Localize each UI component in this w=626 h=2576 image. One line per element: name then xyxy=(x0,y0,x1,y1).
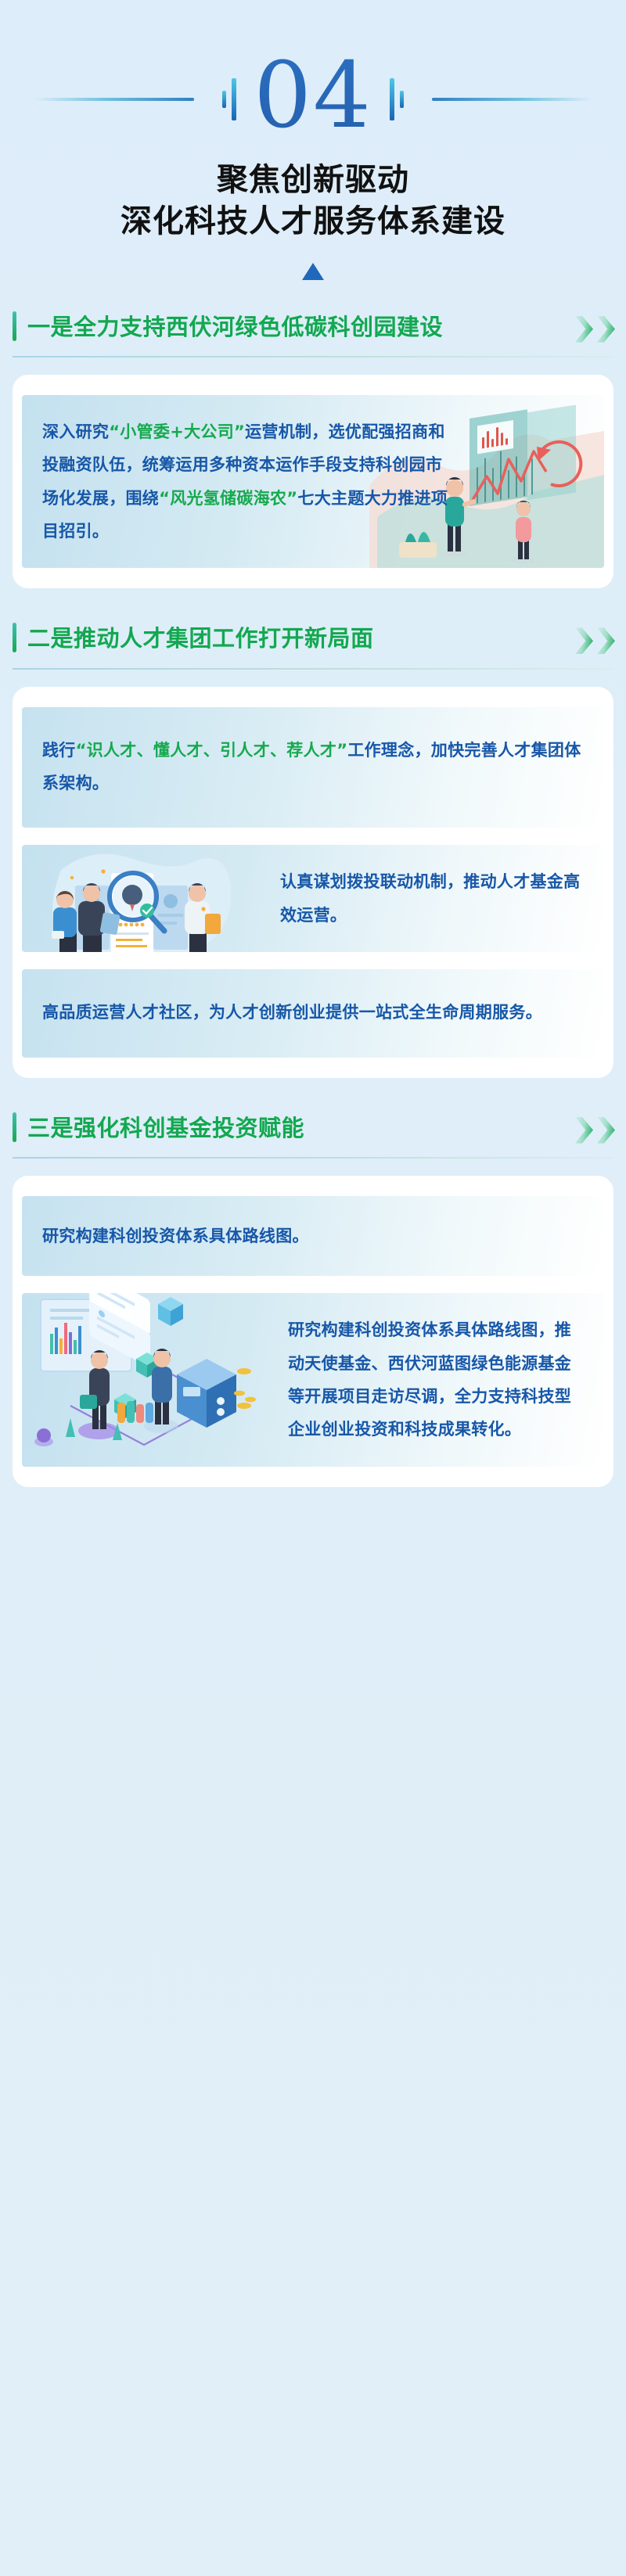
page-title: 聚焦创新驱动 深化科技人才服务体系建设 xyxy=(0,160,626,243)
content-block: 研究构建科创投资体系具体路线图，推动天使基金、西伏河蓝图绿色能源基金等开展项目走… xyxy=(22,1293,604,1467)
section-2-title: 二是推动人才集团工作打开新局面 xyxy=(27,623,575,655)
section-accent-bar xyxy=(13,1112,16,1142)
chevron-right-icon xyxy=(575,627,593,654)
block-text: 高品质运营人才社区，为人才创新创业提供一站式全生命周期服务。 xyxy=(22,969,604,1057)
section-divider xyxy=(13,356,613,357)
double-chevron-right-icon[interactable] xyxy=(575,1117,615,1144)
page-title-line-2: 深化科技人才服务体系建设 xyxy=(0,201,626,243)
page-title-line-1: 聚焦创新驱动 xyxy=(0,160,626,201)
section-2: 二是推动人才集团工作打开新局面 践行“识人才、懂人才、引人才、荐人才”工作理念，… xyxy=(0,623,626,1077)
block-text: 深入研究“小管委+大公司”运营机制，选优配强招商和投融资队伍，统筹运用多种资本运… xyxy=(22,395,604,569)
text-run-highlight: “识人才、懂人才、引人才、荐人才” xyxy=(76,741,348,760)
text-run: 研究构建科创投资体系具体路线图。 xyxy=(42,1227,309,1245)
text-run: 践行 xyxy=(42,741,76,760)
block-text: 认真谋划拨投联动机制，推动人才基金高效运营。 xyxy=(22,845,604,952)
section-divider xyxy=(13,1157,613,1159)
section-accent-bar xyxy=(13,623,16,652)
section-3: 三是强化科创基金投资赋能 研究构建科创投资体系具体路线图。 xyxy=(0,1112,626,1487)
text-run-highlight: “小管委+大公司” xyxy=(109,422,245,441)
text-run-highlight: “风光氢储碳海农” xyxy=(159,489,297,508)
tick-marks-right xyxy=(390,78,404,120)
chevron-right-icon xyxy=(575,1117,593,1144)
content-block: 践行“识人才、懂人才、引人才、荐人才”工作理念，加快完善人才集团体系架构。 xyxy=(22,707,604,828)
double-chevron-right-icon[interactable] xyxy=(575,316,615,343)
page-number: 04 xyxy=(254,51,372,142)
section-2-card: 践行“识人才、懂人才、引人才、荐人才”工作理念，加快完善人才集团体系架构。 xyxy=(13,687,613,1078)
section-3-title: 三是强化科创基金投资赋能 xyxy=(27,1112,575,1144)
divider-rule-right-icon xyxy=(432,98,592,101)
section-1: 一是全力支持西伏河绿色低碳科创园建设 xyxy=(0,311,626,589)
section-3-heading-row: 三是强化科创基金投资赋能 xyxy=(0,1112,626,1144)
section-3-card: 研究构建科创投资体系具体路线图。 xyxy=(13,1176,613,1487)
content-block: 深入研究“小管委+大公司”运营机制，选优配强招商和投融资队伍，统筹运用多种资本运… xyxy=(22,395,604,569)
section-number-row: 04 xyxy=(0,56,626,142)
chevron-right-icon xyxy=(597,316,615,343)
chevron-right-icon xyxy=(575,316,593,343)
block-text: 研究构建科创投资体系具体路线图。 xyxy=(22,1196,604,1276)
page-header: 04 聚焦创新驱动 深化科技人才服务体系建设 xyxy=(0,0,626,280)
tick-large-icon xyxy=(390,78,394,120)
section-1-heading-row: 一是全力支持西伏河绿色低碳科创园建设 xyxy=(0,311,626,343)
tick-small-icon xyxy=(222,91,226,108)
chevron-right-icon xyxy=(597,627,615,654)
block-text: 研究构建科创投资体系具体路线图，推动天使基金、西伏河蓝图绿色能源基金等开展项目走… xyxy=(22,1293,604,1467)
tick-small-icon xyxy=(400,91,404,108)
infographic-page: 04 聚焦创新驱动 深化科技人才服务体系建设 一是全力支持西伏河绿色低碳科创园建… xyxy=(0,0,626,2576)
text-run: 认真谋划拨投联动机制，推动人才基金高效运营。 xyxy=(280,872,580,924)
double-chevron-right-icon[interactable] xyxy=(575,627,615,654)
text-run: 高品质运营人才社区，为人才创新创业提供一站式全生命周期服务。 xyxy=(42,1003,542,1022)
tick-large-icon xyxy=(232,78,236,120)
section-1-title: 一是全力支持西伏河绿色低碳科创园建设 xyxy=(27,311,575,343)
text-run: 深入研究 xyxy=(42,422,109,441)
section-1-card: 深入研究“小管委+大公司”运营机制，选优配强招商和投融资队伍，统筹运用多种资本运… xyxy=(13,375,613,589)
chevron-right-icon xyxy=(597,1117,615,1144)
content-block: 高品质运营人才社区，为人才创新创业提供一站式全生命周期服务。 xyxy=(22,969,604,1057)
content-block: 研究构建科创投资体系具体路线图。 xyxy=(22,1196,604,1276)
section-2-heading-row: 二是推动人才集团工作打开新局面 xyxy=(0,623,626,655)
block-text: 践行“识人才、懂人才、引人才、荐人才”工作理念，加快完善人才集团体系架构。 xyxy=(22,707,604,828)
section-accent-bar xyxy=(13,311,16,341)
divider-rule-left-icon xyxy=(34,98,194,101)
section-divider xyxy=(13,668,613,670)
text-run: 研究构建科创投资体系具体路线图，推动天使基金、西伏河蓝图绿色能源基金等开展项目走… xyxy=(288,1320,571,1439)
triangle-up-icon xyxy=(302,263,324,280)
content-block: 认真谋划拨投联动机制，推动人才基金高效运营。 xyxy=(22,845,604,952)
triangle-marker xyxy=(0,263,626,280)
tick-marks-left xyxy=(222,78,236,120)
